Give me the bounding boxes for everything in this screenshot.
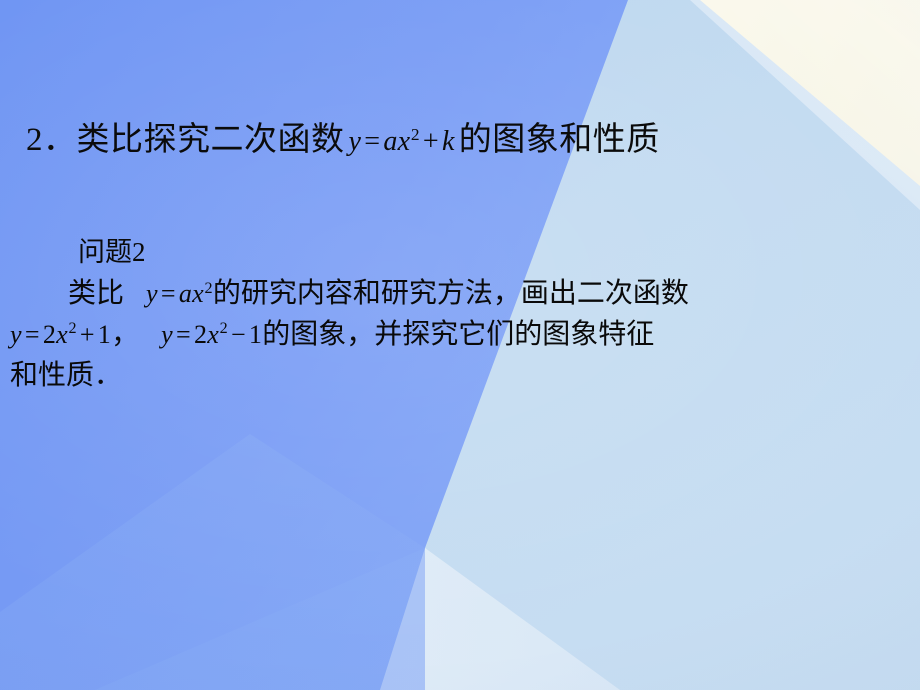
title-formula-const: k <box>442 126 455 157</box>
line2-f1-coef: 2 <box>43 320 56 349</box>
title-formula-plus: + <box>420 126 442 157</box>
line2-comma: ， <box>111 319 139 350</box>
title-formula-var: x <box>398 126 411 157</box>
line1-formula: y=ax2 <box>124 279 213 308</box>
slide-content: 2．类比探究二次函数y=ax2+k的图象和性质 问题2 类比y=ax2的研究内容… <box>0 0 920 690</box>
title-text-before: 类比探究二次函数 <box>77 122 345 158</box>
line2-f2-op: − <box>228 320 249 349</box>
question-label: 问题2 <box>78 236 910 268</box>
body-block: 问题2 类比y=ax2的研究内容和研究方法，画出二次函数 y=2x2+1，y=2… <box>10 236 910 396</box>
line1-formula-var: x <box>192 279 204 308</box>
line2-f2-var: x <box>207 320 219 349</box>
line2-suffix: 的图象，并探究它们的图象特征 <box>262 319 654 350</box>
title-formula-lhs: y <box>349 126 362 157</box>
line2-f2-coef: 2 <box>194 320 207 349</box>
line2-f1-const: 1 <box>98 320 111 349</box>
line2-f1-var: x <box>56 320 68 349</box>
line2-f1-power: 2 <box>68 320 77 337</box>
line2-f2-const: 1 <box>249 320 262 349</box>
line2-f2-equals: = <box>173 320 194 349</box>
body-line-3: 和性质． <box>10 356 910 397</box>
line2-f2-power: 2 <box>219 320 228 337</box>
line2-f1-lhs: y <box>10 320 22 349</box>
title-formula-equals: = <box>361 126 383 157</box>
line2-f1-equals: = <box>22 320 43 349</box>
line1-prefix: 类比 <box>68 278 124 309</box>
line1-formula-coef: a <box>179 279 192 308</box>
line1-formula-lhs: y <box>146 279 158 308</box>
title-number: 2． <box>26 122 77 158</box>
line2-f2-lhs: y <box>161 320 173 349</box>
line1-formula-power: 2 <box>204 280 213 297</box>
title-formula-coef: a <box>383 126 397 157</box>
line1-suffix: 的研究内容和研究方法，画出二次函数 <box>213 278 689 309</box>
slide-title: 2．类比探究二次函数y=ax2+k的图象和性质 <box>26 122 660 160</box>
line2-formula-1: y=2x2+1 <box>10 320 111 349</box>
line2-f1-op: + <box>77 320 98 349</box>
title-formula: y=ax2+k <box>345 126 459 157</box>
body-line-1: 类比y=ax2的研究内容和研究方法，画出二次函数 <box>10 274 910 315</box>
line2-formula-2: y=2x2−1 <box>161 320 262 349</box>
title-formula-power: 2 <box>410 125 419 144</box>
slide-canvas: 2．类比探究二次函数y=ax2+k的图象和性质 问题2 类比y=ax2的研究内容… <box>0 0 920 690</box>
line1-formula-equals: = <box>158 279 179 308</box>
title-text-after: 的图象和性质 <box>459 122 660 158</box>
body-line-2: y=2x2+1，y=2x2−1的图象，并探究它们的图象特征 <box>10 315 910 356</box>
